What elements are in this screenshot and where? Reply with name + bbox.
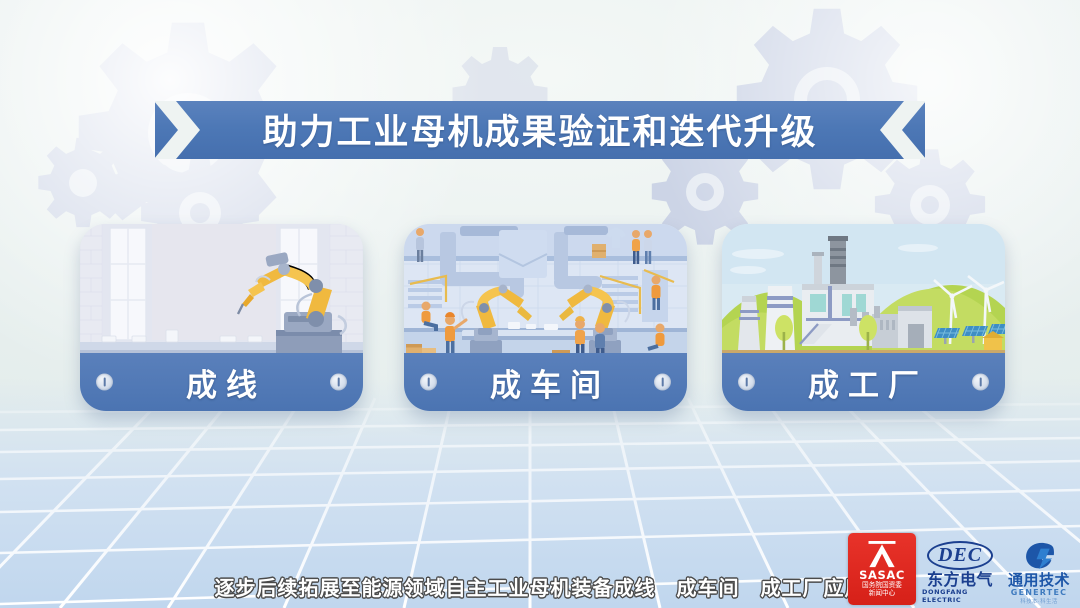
genertec-mark-icon <box>1022 542 1056 570</box>
logo-group: SASAC 国务院国资委 新闻中心 DEC 东方电气 DONGFANG ELEC… <box>848 533 1080 608</box>
sasac-mark-icon <box>865 541 899 568</box>
card-label-line: 成线 <box>177 360 266 405</box>
card-workshop[interactable]: 成车间 <box>404 224 687 411</box>
scene-green-factory <box>722 224 1005 374</box>
screw-icon <box>96 374 113 391</box>
scene-smart-workshop <box>404 224 687 374</box>
logo-sasac: SASAC 国务院国资委 新闻中心 <box>848 533 922 608</box>
card-production-line[interactable]: 成线 <box>80 224 363 411</box>
card-label-bar-workshop: 成车间 <box>404 353 687 411</box>
screw-icon <box>654 374 671 391</box>
dec-abbr: DEC <box>927 541 993 570</box>
factory-illustration <box>722 224 1005 374</box>
sasac-cn-line2: 新闻中心 <box>869 589 896 597</box>
screw-icon <box>330 374 347 391</box>
screw-icon <box>420 374 437 391</box>
card-label-workshop: 成车间 <box>481 360 610 405</box>
logo-dec: DEC 东方电气 DONGFANG ELECTRIC <box>922 536 1002 608</box>
card-row: 成线 <box>0 0 1080 608</box>
slide-stage: 助力工业母机成果验证和迭代升级 <box>0 0 1080 608</box>
scene-robotic-arm <box>80 224 363 374</box>
sasac-cn-line1: 国务院国资委 <box>862 581 902 589</box>
screw-icon <box>738 374 755 391</box>
screw-icon <box>972 374 989 391</box>
sasac-en: SASAC <box>859 569 905 581</box>
robot-arm-illustration <box>80 224 363 374</box>
genertec-sub: 科技本·科生活 <box>1020 597 1058 605</box>
card-factory[interactable]: 成工厂 <box>722 224 1005 411</box>
card-label-factory: 成工厂 <box>799 360 928 405</box>
dec-en: DONGFANG ELECTRIC <box>922 588 998 604</box>
dec-cn: 东方电气 <box>927 571 993 588</box>
genertec-en: GENERTEC <box>1011 588 1067 597</box>
card-label-bar-factory: 成工厂 <box>722 353 1005 411</box>
genertec-cn: 通用技术 <box>1008 572 1070 588</box>
logo-genertec: 通用技术 GENERTEC 科技本·科生活 <box>1002 536 1080 608</box>
card-label-bar-line: 成线 <box>80 353 363 411</box>
workshop-illustration <box>404 224 687 374</box>
